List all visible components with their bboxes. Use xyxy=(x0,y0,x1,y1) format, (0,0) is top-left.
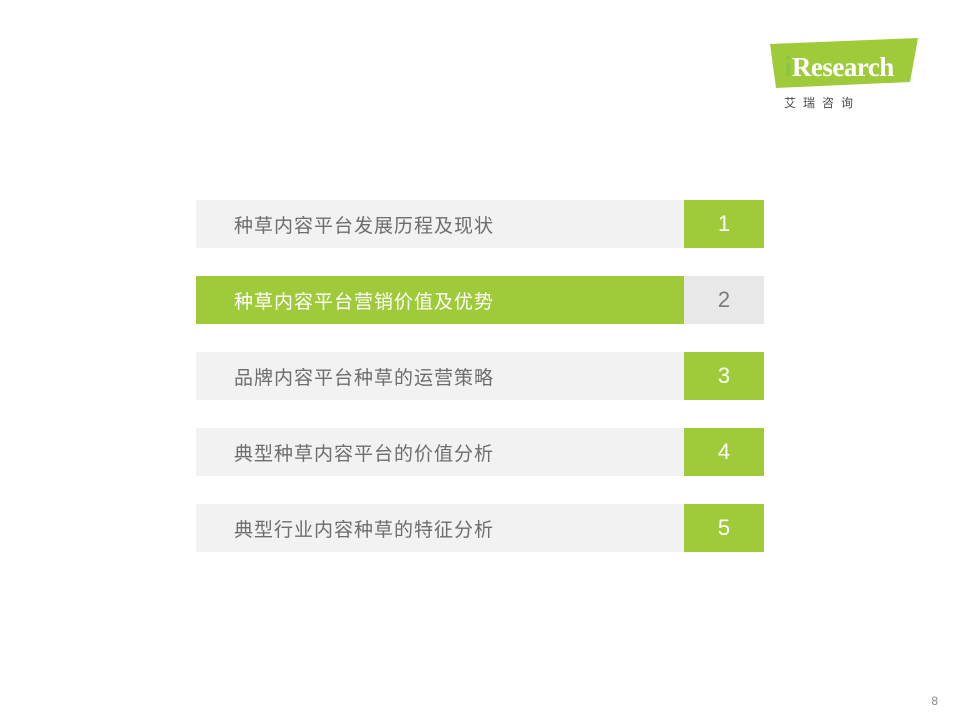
logo-initial-i: i xyxy=(784,50,792,83)
agenda-list: 种草内容平台发展历程及现状 1 种草内容平台营销价值及优势 2 品牌内容平台种草… xyxy=(196,200,764,580)
agenda-item-1-number: 1 xyxy=(684,200,764,248)
page-number: 8 xyxy=(931,694,938,708)
agenda-item-3[interactable]: 品牌内容平台种草的运营策略 3 xyxy=(196,352,764,400)
agenda-item-4-number: 4 xyxy=(684,428,764,476)
agenda-item-2[interactable]: 种草内容平台营销价值及优势 2 xyxy=(196,276,764,324)
agenda-item-4[interactable]: 典型种草内容平台的价值分析 4 xyxy=(196,428,764,476)
logo-name: Research xyxy=(792,52,894,82)
logo-wordmark: iResearch xyxy=(784,50,894,84)
agenda-item-5-number: 5 xyxy=(684,504,764,552)
agenda-item-5[interactable]: 典型行业内容种草的特征分析 5 xyxy=(196,504,764,552)
agenda-item-2-label: 种草内容平台营销价值及优势 xyxy=(196,276,684,324)
agenda-item-4-label: 典型种草内容平台的价值分析 xyxy=(196,428,684,476)
agenda-item-1[interactable]: 种草内容平台发展历程及现状 1 xyxy=(196,200,764,248)
agenda-item-2-number: 2 xyxy=(684,276,764,324)
agenda-item-1-label: 种草内容平台发展历程及现状 xyxy=(196,200,684,248)
agenda-item-3-label: 品牌内容平台种草的运营策略 xyxy=(196,352,684,400)
iresearch-logo: iResearch 艾瑞咨询 xyxy=(770,38,918,118)
agenda-item-5-label: 典型行业内容种草的特征分析 xyxy=(196,504,684,552)
logo-chinese-name: 艾瑞咨询 xyxy=(784,94,860,111)
agenda-item-3-number: 3 xyxy=(684,352,764,400)
